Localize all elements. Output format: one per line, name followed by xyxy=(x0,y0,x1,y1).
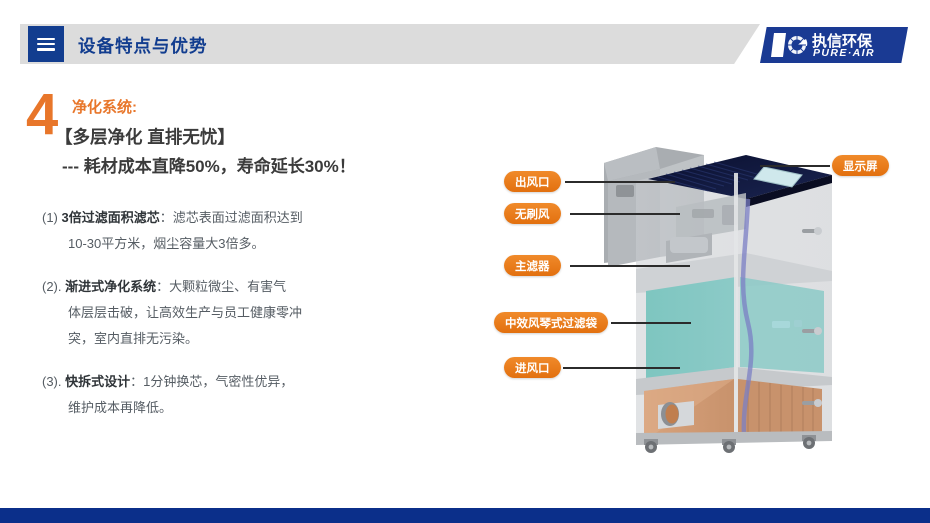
leader-line xyxy=(611,322,691,324)
leader-line xyxy=(563,367,680,369)
bullet-term: 3倍过滤面积滤芯 xyxy=(62,210,160,225)
callout-brushless-fan[interactable]: 无刷风 xyxy=(504,203,561,224)
caster-wheel xyxy=(722,439,736,453)
callout-air-inlet[interactable]: 进风口 xyxy=(504,357,561,378)
brand-logo: 执信环保 PURE·AIR xyxy=(760,27,908,63)
callout-display-screen[interactable]: 显示屏 xyxy=(832,155,889,176)
bullet-colon: ： xyxy=(160,210,173,225)
section-number: 4 xyxy=(26,86,58,144)
caster-wheel xyxy=(802,435,816,449)
leader-line xyxy=(570,213,680,215)
bullet-list: (1) 3倍过滤面积滤芯：滤芯表面过滤面积达到 10-30平方米，烟尘容量大3倍… xyxy=(42,205,414,438)
bullet-index: (2). xyxy=(42,279,62,294)
callout-label: 显示屏 xyxy=(843,158,878,174)
bullet-continuation: 10-30平方米，烟尘容量大3倍多。 xyxy=(42,231,414,257)
leader-line xyxy=(565,181,675,183)
bullet-text: 滤芯表面过滤面积达到 xyxy=(173,210,303,225)
bullet-continuation-2: 突，室内直排无污染。 xyxy=(42,326,414,352)
section-subtitle: 净化系统: xyxy=(72,96,137,117)
caster-wheel xyxy=(644,439,658,453)
bullet-text: 1分钟换芯，气密性优异， xyxy=(143,374,293,389)
callout-main-filter[interactable]: 主滤器 xyxy=(504,255,561,276)
leader-line xyxy=(570,265,690,267)
bullet-colon: ： xyxy=(130,374,143,389)
bullet-colon: ： xyxy=(156,279,169,294)
callout-air-outlet[interactable]: 出风口 xyxy=(504,171,561,192)
callout-label: 无刷风 xyxy=(515,206,550,222)
list-item: (1) 3倍过滤面积滤芯：滤芯表面过滤面积达到 10-30平方米，烟尘容量大3倍… xyxy=(42,205,414,257)
footer-bar xyxy=(0,508,930,523)
heading-line-2: --- 耗材成本直降50%，寿命延长30%！ xyxy=(62,152,356,177)
list-item: (3). 快拆式设计：1分钟换芯，气密性优异， 维护成本再降低。 xyxy=(42,369,414,421)
bullet-continuation: 维护成本再降低。 xyxy=(42,395,414,421)
bullet-text: 大颗粒微尘、有害气 xyxy=(169,279,286,294)
list-item: (2). 渐进式净化系统：大颗粒微尘、有害气 体层层击破，让高效生产与员工健康零… xyxy=(42,274,414,352)
bullet-index: (1) xyxy=(42,210,58,225)
bullet-index: (3). xyxy=(42,374,62,389)
fan-swoosh-icon xyxy=(770,31,810,59)
slide-canvas: 设备特点与优势 执信环保 PURE·AIR 4 净化系统: 【多层净化 直排无忧… xyxy=(0,0,930,523)
leader-line xyxy=(760,165,830,167)
callout-label: 出风口 xyxy=(515,174,550,190)
callout-label: 主滤器 xyxy=(515,258,550,274)
bullet-continuation: 体层层击破，让高效生产与员工健康零冲 xyxy=(42,300,414,326)
bullet-term: 快拆式设计 xyxy=(65,374,130,389)
hamburger-icon xyxy=(37,38,55,51)
callout-label: 中效风琴式过滤袋 xyxy=(505,315,597,331)
logo-english-text: PURE·AIR xyxy=(813,47,875,59)
page-title: 设备特点与优势 xyxy=(78,33,208,58)
callout-label: 进风口 xyxy=(515,360,550,376)
heading-line-1: 【多层净化 直排无忧】 xyxy=(55,124,235,149)
bullet-term: 渐进式净化系统 xyxy=(65,279,156,294)
hamburger-menu-button[interactable] xyxy=(28,26,64,62)
callout-medium-efficiency-bag-filter[interactable]: 中效风琴式过滤袋 xyxy=(494,312,608,333)
